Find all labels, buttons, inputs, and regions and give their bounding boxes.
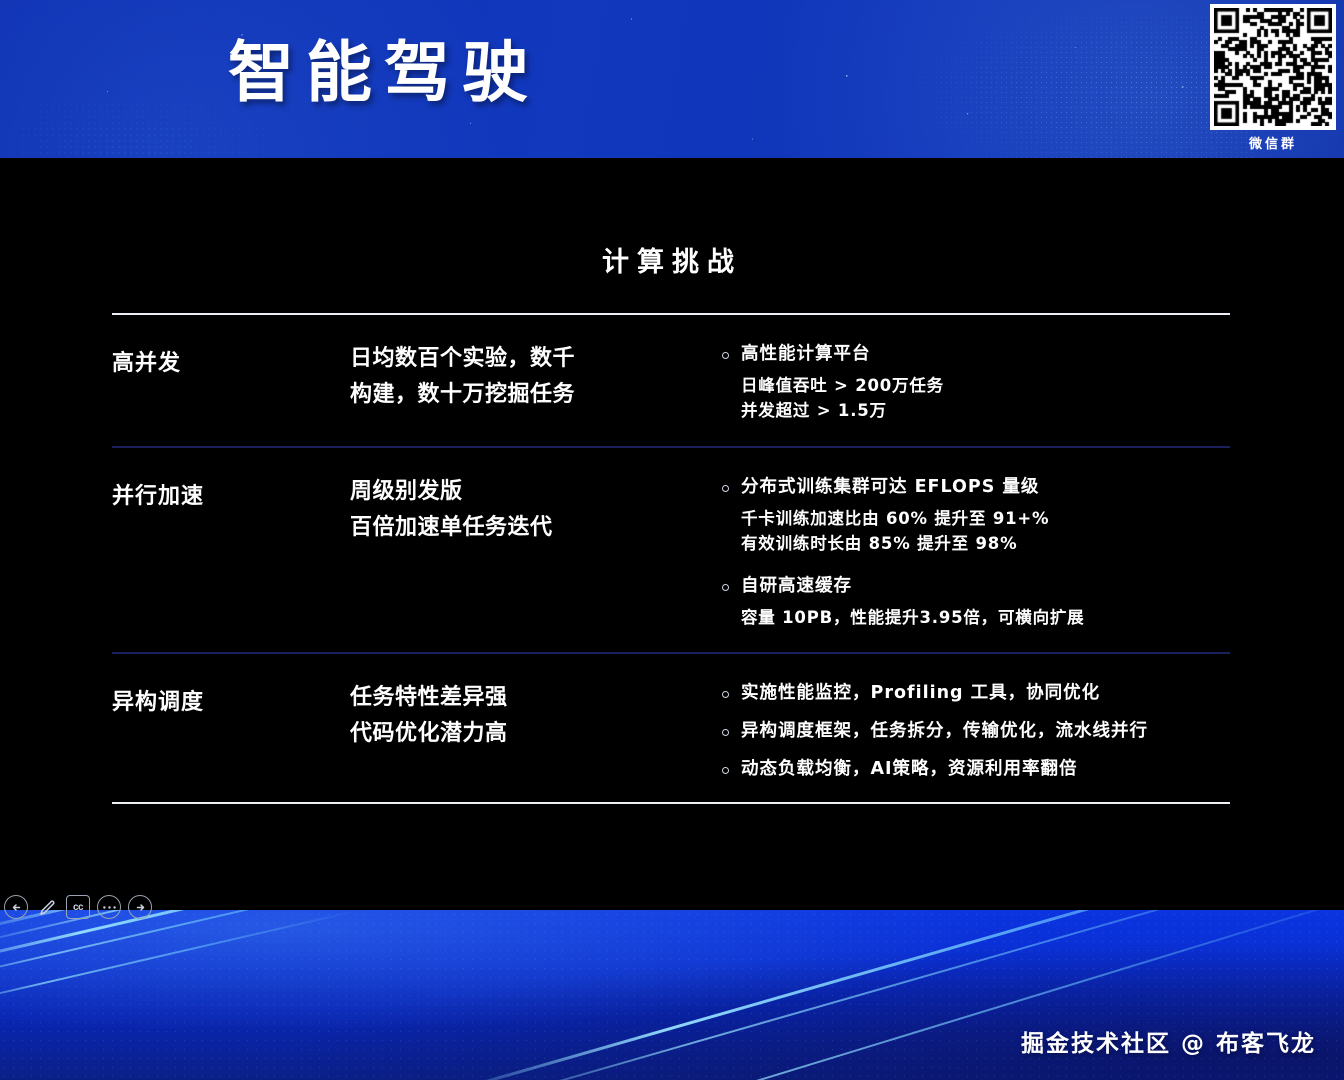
- bullet-item: 高性能计算平台: [722, 343, 1230, 366]
- row-description-line: 任务特性差异强: [350, 680, 722, 716]
- bullet-item: 异构调度框架，任务拆分，传输优化，流水线并行: [722, 720, 1230, 743]
- particle-dust-right-decoration: [894, 0, 1254, 158]
- more-options-icon[interactable]: [97, 895, 121, 919]
- row-description: 日均数百个实验，数千 构建，数十万挖掘任务: [350, 341, 722, 412]
- wechat-qr-block: 微信群: [1206, 4, 1340, 152]
- bullet-ring-icon: [722, 352, 729, 359]
- bullet-subtext: 日峰值吞吐 > 200万任务 并发超过 > 1.5万: [741, 373, 1230, 424]
- row-description-line: 百倍加速单任务迭代: [350, 510, 722, 546]
- qr-code-icon: [1210, 4, 1336, 130]
- qr-code-label: 微信群: [1206, 133, 1340, 152]
- forward-arrow-icon[interactable]: [128, 895, 152, 919]
- bullet-ring-icon: [722, 767, 729, 774]
- row-description-line: 日均数百个实验，数千: [350, 341, 722, 377]
- bullet-item: 分布式训练集群可达 EFLOPS 量级: [722, 476, 1230, 499]
- star-field-decoration: [0, 0, 1344, 158]
- bullet-label: 异构调度框架，任务拆分，传输优化，流水线并行: [741, 720, 1148, 743]
- page-title: 智能驾驶: [228, 40, 540, 106]
- challenges-table: 高并发 日均数百个实验，数千 构建，数十万挖掘任务 高性能计算平台 日峰值吞吐 …: [112, 313, 1230, 804]
- bullet-subtext-line: 千卡训练加速比由 60% 提升至 91+%: [741, 506, 1230, 532]
- bullet-subtext-line: 容量 10PB，性能提升3.95倍，可横向扩展: [741, 605, 1230, 631]
- slide-body: 计算挑战 高并发 日均数百个实验，数千 构建，数十万挖掘任务 高性能计算平台 日…: [0, 158, 1344, 910]
- table-row: 并行加速 周级别发版 百倍加速单任务迭代 分布式训练集群可达 EFLOPS 量级…: [112, 448, 1230, 652]
- bullet-item: 实施性能监控，Profiling 工具，协同优化: [722, 682, 1230, 705]
- row-category: 异构调度: [112, 680, 350, 716]
- table-row: 高并发 日均数百个实验，数千 构建，数十万挖掘任务 高性能计算平台 日峰值吞吐 …: [112, 315, 1230, 446]
- row-description: 任务特性差异强 代码优化潜力高: [350, 680, 722, 751]
- bullet-subtext-line: 并发超过 > 1.5万: [741, 398, 1230, 424]
- watermark-text: 掘金技术社区 @ 布客飞龙: [1021, 1024, 1316, 1058]
- detail-group: 高性能计算平台 日峰值吞吐 > 200万任务 并发超过 > 1.5万: [722, 343, 1230, 424]
- bullet-ring-icon: [722, 584, 729, 591]
- back-arrow-icon[interactable]: [4, 895, 28, 919]
- slide-footer: 掘金技术社区 @ 布客飞龙: [0, 910, 1344, 1080]
- bullet-label: 分布式训练集群可达 EFLOPS 量级: [741, 476, 1039, 499]
- row-description-line: 周级别发版: [350, 474, 722, 510]
- row-description-line: 构建，数十万挖掘任务: [350, 377, 722, 413]
- row-description: 周级别发版 百倍加速单任务迭代: [350, 474, 722, 545]
- bullet-label: 动态负载均衡，AI策略，资源利用率翻倍: [741, 758, 1078, 781]
- bullet-ring-icon: [722, 729, 729, 736]
- bullet-label: 自研高速缓存: [741, 575, 852, 598]
- bullet-ring-icon: [722, 691, 729, 698]
- slide-header: 智能驾驶 微信群: [0, 0, 1344, 158]
- bullet-subtext-line: 日峰值吞吐 > 200万任务: [741, 373, 1230, 399]
- bullet-item: 动态负载均衡，AI策略，资源利用率翻倍: [722, 758, 1230, 781]
- slide-toolbar[interactable]: cc: [4, 890, 152, 924]
- bullet-item: 自研高速缓存: [722, 575, 1230, 598]
- bullet-label: 高性能计算平台: [741, 343, 871, 366]
- bullet-subtext: 千卡训练加速比由 60% 提升至 91+% 有效训练时长由 85% 提升至 98…: [741, 506, 1230, 557]
- row-details: 实施性能监控，Profiling 工具，协同优化 异构调度框架，任务拆分，传输优…: [722, 680, 1230, 780]
- bullet-subtext-line: 有效训练时长由 85% 提升至 98%: [741, 531, 1230, 557]
- row-details: 分布式训练集群可达 EFLOPS 量级 千卡训练加速比由 60% 提升至 91+…: [722, 474, 1230, 630]
- bullet-ring-icon: [722, 485, 729, 492]
- table-bottom-divider: [112, 802, 1230, 804]
- closed-caption-icon[interactable]: cc: [66, 895, 90, 919]
- table-row: 异构调度 任务特性差异强 代码优化潜力高 实施性能监控，Profiling 工具…: [112, 654, 1230, 802]
- detail-group: 自研高速缓存 容量 10PB，性能提升3.95倍，可横向扩展: [722, 575, 1230, 630]
- detail-group: 分布式训练集群可达 EFLOPS 量级 千卡训练加速比由 60% 提升至 91+…: [722, 476, 1230, 557]
- bullet-subtext: 容量 10PB，性能提升3.95倍，可横向扩展: [741, 605, 1230, 631]
- row-category: 高并发: [112, 341, 350, 377]
- row-details: 高性能计算平台 日峰值吞吐 > 200万任务 并发超过 > 1.5万: [722, 341, 1230, 424]
- pencil-icon[interactable]: [35, 895, 59, 919]
- section-heading: 计算挑战: [0, 240, 1344, 279]
- row-description-line: 代码优化潜力高: [350, 716, 722, 752]
- row-category: 并行加速: [112, 474, 350, 510]
- bullet-label: 实施性能监控，Profiling 工具，协同优化: [741, 682, 1100, 705]
